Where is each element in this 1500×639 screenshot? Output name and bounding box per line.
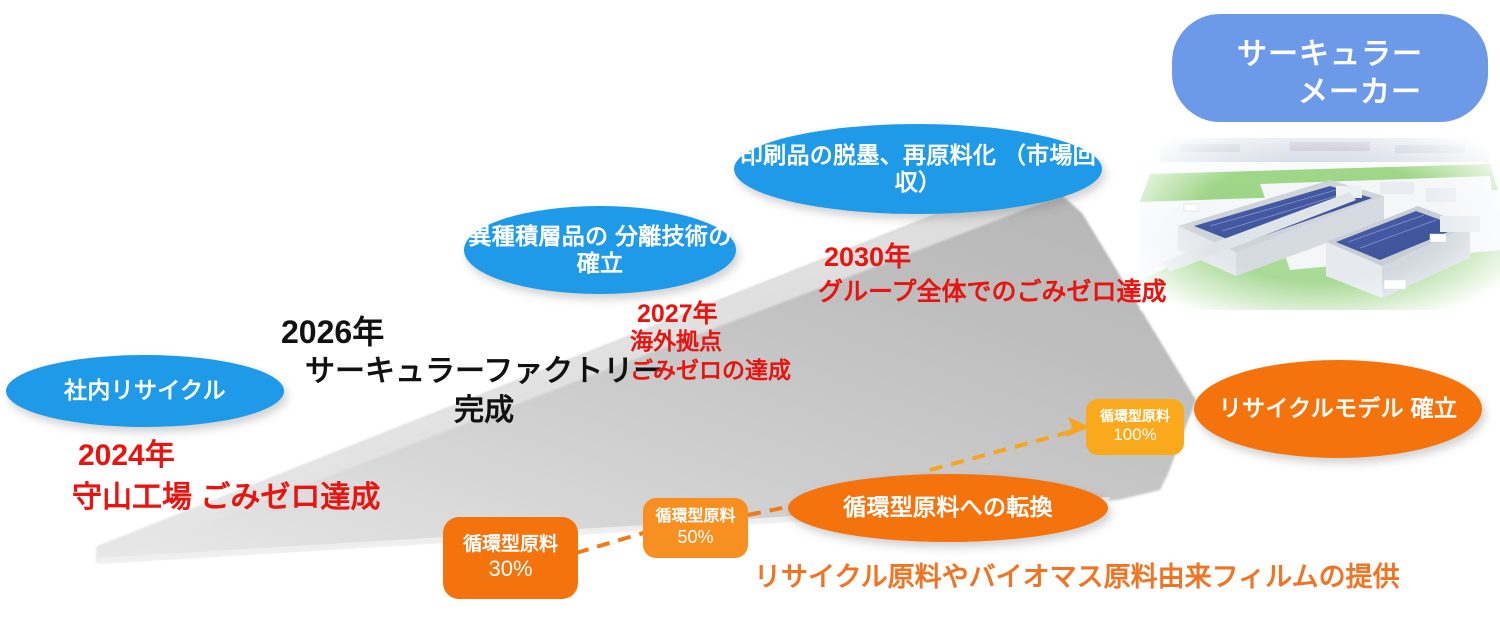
capsule-line2: メーカー bbox=[1172, 74, 1488, 112]
milestone-2030-detail: グループ全体でのごみゼロ達成 bbox=[818, 272, 1167, 308]
footer-note: リサイクル原料やバイオマス原料由来フィルムの提供 bbox=[754, 555, 1400, 594]
chip-100-value: 100% bbox=[1113, 425, 1156, 446]
chip-30-label: 循環型原料 bbox=[463, 533, 558, 556]
factory-photo bbox=[1140, 130, 1500, 310]
bubble-recycle-model-label: リサイクルモデル 確立 bbox=[1219, 395, 1458, 422]
bubble-deinking-label: 印刷品の脱墨、再原料化 （市場回収） bbox=[734, 142, 1102, 196]
bubble-recycle-model[interactable]: リサイクルモデル 確立 bbox=[1194, 360, 1482, 458]
milestone-2030-year: 2030年 bbox=[824, 235, 911, 274]
chip-100-label: 循環型原料 bbox=[1100, 408, 1170, 425]
milestone-2024-detail: 守山工場 ごみゼロ達成 bbox=[72, 472, 380, 516]
bubble-internal-recycle-label: 社内リサイクル bbox=[64, 377, 226, 404]
bubble-separation-tech-label: 異種積層品の 分離技術の確立 bbox=[464, 223, 736, 277]
bubble-circular-maker[interactable]: サーキュラー メーカー bbox=[1172, 14, 1488, 122]
bubble-separation-tech[interactable]: 異種積層品の 分離技術の確立 bbox=[464, 206, 736, 294]
milestone-2024-year: 2024年 bbox=[78, 430, 175, 474]
infographic-canvas: サーキュラー メーカー 社内リサイクル 異種積層品の 分離技術の確立 印刷品の脱… bbox=[0, 0, 1500, 639]
chip-circular-material-30[interactable]: 循環型原料 30% bbox=[443, 517, 578, 599]
bubble-internal-recycle[interactable]: 社内リサイクル bbox=[6, 355, 284, 427]
chip-50-label: 循環型原料 bbox=[655, 507, 735, 527]
milestone-2026-year: 2026年 bbox=[281, 307, 384, 353]
bubble-material-switch-label: 循環型原料への転換 bbox=[843, 494, 1053, 521]
chip-circular-material-50[interactable]: 循環型原料 50% bbox=[643, 498, 748, 558]
bubble-deinking[interactable]: 印刷品の脱墨、再原料化 （市場回収） bbox=[734, 124, 1102, 214]
milestone-2027-detail: 海外拠点 ごみゼロの達成 bbox=[630, 327, 791, 386]
milestone-2027-year: 2027年 bbox=[637, 294, 718, 330]
milestone-2026-detail: サーキュラーファクトリー 完成 bbox=[305, 352, 663, 430]
chip-50-value: 50% bbox=[677, 527, 713, 549]
chip-circular-material-100[interactable]: 循環型原料 100% bbox=[1086, 399, 1184, 455]
chip-30-value: 30% bbox=[488, 556, 532, 583]
capsule-line1: サーキュラー bbox=[1172, 36, 1488, 74]
bubble-material-switch[interactable]: 循環型原料への転換 bbox=[788, 474, 1108, 542]
